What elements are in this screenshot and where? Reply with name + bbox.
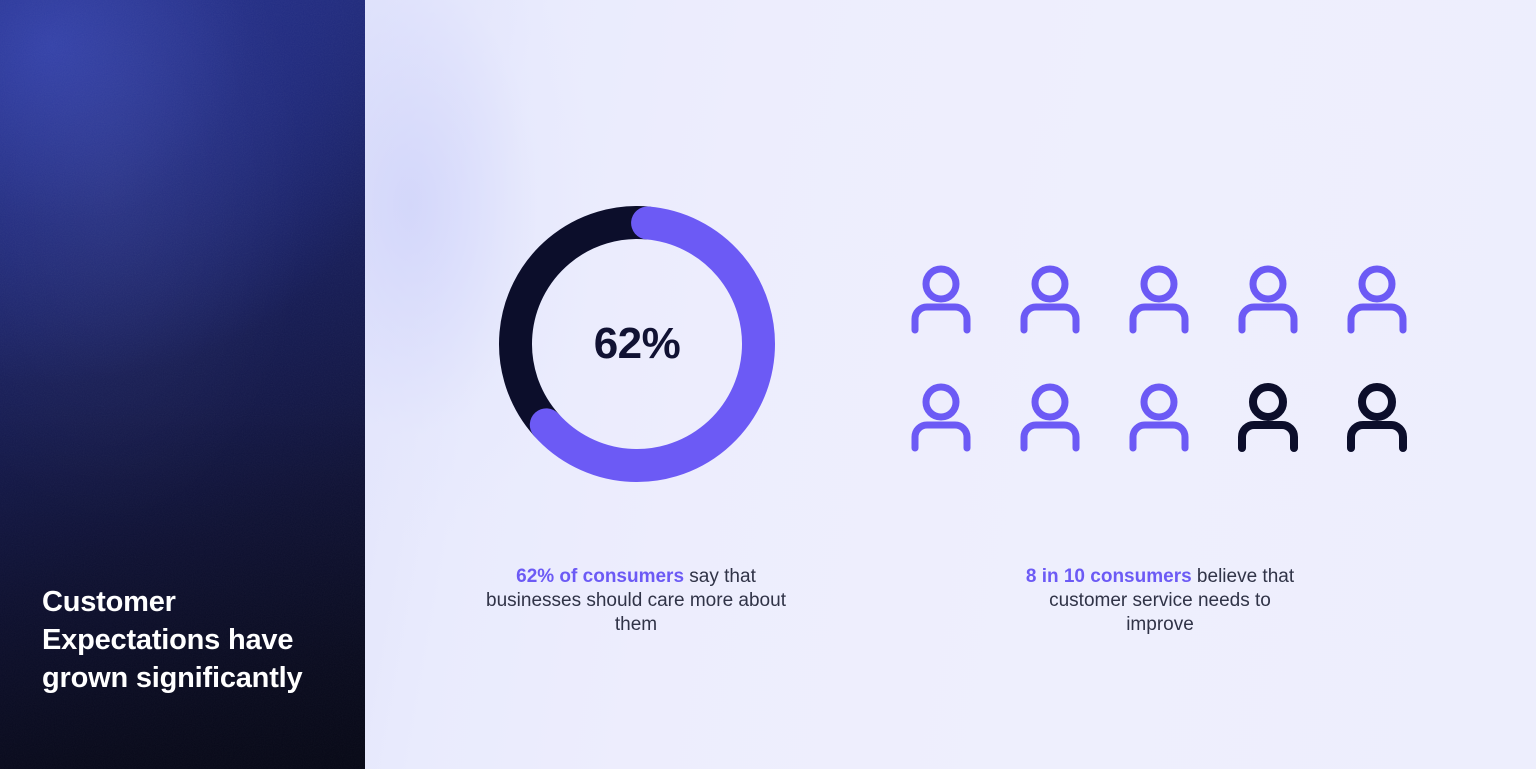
left-title-panel: Customer Expectations have grown signifi… xyxy=(0,0,365,769)
pictogram-caption-highlight: 8 in 10 consumers xyxy=(1026,566,1192,587)
person-icon-unfilled xyxy=(1235,380,1301,452)
person-icon-unfilled xyxy=(1344,380,1410,452)
person-icon xyxy=(1126,380,1192,452)
page-title-line-3: grown significantly xyxy=(42,659,342,697)
person-icon xyxy=(1017,380,1083,452)
donut-caption: 62% of consumers say that businesses sho… xyxy=(485,565,787,637)
person-icon xyxy=(1126,262,1192,334)
person-icon xyxy=(1235,262,1301,334)
page-title-line-1: Customer xyxy=(42,583,342,621)
donut-caption-highlight: 62% of consumers xyxy=(516,566,684,587)
donut-center-value: 62% xyxy=(498,205,776,483)
content-area: 62% xyxy=(365,0,1536,769)
infographic-slide: Customer Expectations have grown signifi… xyxy=(0,0,1536,769)
people-pictogram-grid xyxy=(908,262,1453,498)
page-title-line-2: Expectations have xyxy=(42,621,342,659)
pictogram-caption: 8 in 10 consumers believe that customer … xyxy=(1015,565,1305,637)
page-title: Customer Expectations have grown signifi… xyxy=(42,583,342,697)
person-icon xyxy=(908,380,974,452)
person-icon xyxy=(908,262,974,334)
person-icon xyxy=(1344,262,1410,334)
person-icon xyxy=(1017,262,1083,334)
donut-chart: 62% xyxy=(498,205,776,483)
right-content-panel: 62% xyxy=(365,0,1536,769)
